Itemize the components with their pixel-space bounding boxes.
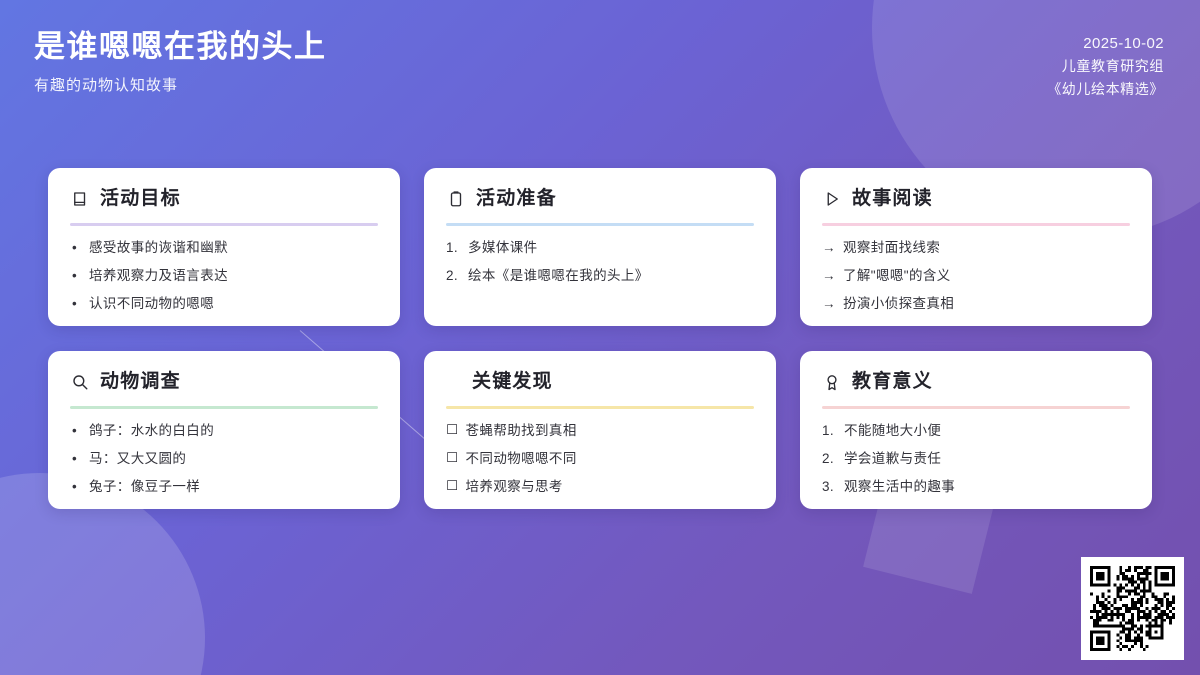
list-item-marker: →: [822, 238, 836, 257]
list-item-marker: 1.: [822, 421, 837, 440]
list-item: 2.绘本《是谁嗯嗯在我的头上》: [446, 266, 754, 285]
card-header: 教育意义: [822, 367, 1130, 397]
list-item: ☐培养观察与思考: [446, 477, 754, 496]
list-item-text: 观察封面找线索: [843, 238, 940, 257]
list-item: ☐不同动物嗯嗯不同: [446, 449, 754, 468]
list-item-marker: •: [70, 449, 82, 468]
page-title: 是谁嗯嗯在我的头上: [34, 26, 327, 68]
card-title: 关键发现: [472, 369, 553, 395]
list-item-marker: •: [70, 477, 82, 496]
list-item: →观察封面找线索: [822, 238, 1130, 257]
list-item: •感受故事的诙谐和幽默: [70, 238, 378, 257]
list-item: →了解"嗯嗯"的含义: [822, 266, 1130, 285]
list-item: ☐苍蝇帮助找到真相: [446, 421, 754, 440]
title-block: 是谁嗯嗯在我的头上 有趣的动物认知故事: [34, 26, 327, 98]
card-header: 故事阅读: [822, 184, 1130, 214]
list-item-text: 观察生活中的趣事: [844, 477, 955, 496]
card-divider: [446, 223, 754, 226]
list-item: 1.多媒体课件: [446, 238, 754, 257]
list-item: •兔子：像豆子一样: [70, 477, 378, 496]
card-header: 活动准备: [446, 184, 754, 214]
list-item-marker: •: [70, 294, 82, 313]
card-title: 教育意义: [852, 369, 933, 395]
list-item-text: 绘本《是谁嗯嗯在我的头上》: [468, 266, 649, 285]
card-list: •鸽子：水水的白白的•马：又大又圆的•兔子：像豆子一样: [70, 421, 378, 496]
list-item-marker: •: [70, 421, 82, 440]
card-title: 活动准备: [476, 186, 557, 212]
list-item-marker: →: [822, 294, 836, 313]
list-item-text: 苍蝇帮助找到真相: [466, 421, 577, 440]
qr-code[interactable]: [1081, 557, 1184, 660]
list-item-text: 感受故事的诙谐和幽默: [89, 238, 228, 257]
list-item: •马：又大又圆的: [70, 449, 378, 468]
card-divider: [70, 406, 378, 409]
card-header: 活动目标: [70, 184, 378, 214]
book-icon: [70, 189, 90, 209]
list-item-marker: •: [70, 238, 82, 257]
card-divider: [822, 223, 1130, 226]
list-item-text: 兔子：像豆子一样: [89, 477, 200, 496]
slide-root: 是谁嗯嗯在我的头上 有趣的动物认知故事 2025-10-02 儿童教育研究组 《…: [0, 0, 1200, 675]
card-header: 动物调查: [70, 367, 378, 397]
card: 关键发现☐苍蝇帮助找到真相☐不同动物嗯嗯不同☐培养观察与思考: [424, 351, 776, 509]
slide-header: 是谁嗯嗯在我的头上 有趣的动物认知故事 2025-10-02 儿童教育研究组 《…: [0, 0, 1200, 150]
card: 动物调查•鸽子：水水的白白的•马：又大又圆的•兔子：像豆子一样: [48, 351, 400, 509]
list-item-text: 认识不同动物的嗯嗯: [89, 294, 214, 313]
clipboard-icon: [446, 189, 466, 209]
card-list: 1.不能随地大小便2.学会道歉与责任3.观察生活中的趣事: [822, 421, 1130, 496]
card: 活动目标•感受故事的诙谐和幽默•培养观察力及语言表达•认识不同动物的嗯嗯: [48, 168, 400, 326]
list-item: →扮演小侦探查真相: [822, 294, 1130, 313]
card: 教育意义1.不能随地大小便2.学会道歉与责任3.观察生活中的趣事: [800, 351, 1152, 509]
page-subtitle: 有趣的动物认知故事: [34, 74, 327, 98]
search-icon: [70, 372, 90, 392]
list-item-marker: ☐: [446, 449, 459, 468]
list-item-text: 马：又大又圆的: [89, 449, 186, 468]
card-title: 活动目标: [100, 186, 181, 212]
list-item-text: 多媒体课件: [468, 238, 538, 257]
meta-organization: 儿童教育研究组: [1047, 55, 1164, 78]
card-header: 关键发现: [446, 367, 754, 397]
card-list: 1.多媒体课件2.绘本《是谁嗯嗯在我的头上》: [446, 238, 754, 285]
list-item-marker: •: [70, 266, 82, 285]
list-item-marker: ☐: [446, 421, 459, 440]
card-divider: [446, 406, 754, 409]
card-divider: [822, 406, 1130, 409]
list-item-text: 培养观察与思考: [466, 477, 563, 496]
list-item-text: 不能随地大小便: [844, 421, 941, 440]
list-item-text: 扮演小侦探查真相: [843, 294, 954, 313]
list-item: •培养观察力及语言表达: [70, 266, 378, 285]
meta-block: 2025-10-02 儿童教育研究组 《幼儿绘本精选》: [1047, 32, 1164, 101]
list-item-text: 不同动物嗯嗯不同: [466, 449, 577, 468]
card-grid: 活动目标•感受故事的诙谐和幽默•培养观察力及语言表达•认识不同动物的嗯嗯活动准备…: [48, 168, 1152, 509]
list-item-marker: 2.: [822, 449, 837, 468]
award-icon: [822, 372, 842, 392]
card-list: →观察封面找线索→了解"嗯嗯"的含义→扮演小侦探查真相: [822, 238, 1130, 313]
list-item: 1.不能随地大小便: [822, 421, 1130, 440]
list-item: 3.观察生活中的趣事: [822, 477, 1130, 496]
list-item-marker: 3.: [822, 477, 837, 496]
list-item-marker: 1.: [446, 238, 461, 257]
card-list: •感受故事的诙谐和幽默•培养观察力及语言表达•认识不同动物的嗯嗯: [70, 238, 378, 313]
qr-code-image: [1090, 566, 1175, 651]
list-item-marker: 2.: [446, 266, 461, 285]
list-item: 2.学会道歉与责任: [822, 449, 1130, 468]
card-list: ☐苍蝇帮助找到真相☐不同动物嗯嗯不同☐培养观察与思考: [446, 421, 754, 496]
list-item: •认识不同动物的嗯嗯: [70, 294, 378, 313]
card: 故事阅读→观察封面找线索→了解"嗯嗯"的含义→扮演小侦探查真相: [800, 168, 1152, 326]
list-item-marker: ☐: [446, 477, 459, 496]
play-triangle-icon: [822, 189, 842, 209]
list-item-marker: →: [822, 266, 836, 285]
card-divider: [70, 223, 378, 226]
card: 活动准备1.多媒体课件2.绘本《是谁嗯嗯在我的头上》: [424, 168, 776, 326]
list-item-text: 鸽子：水水的白白的: [89, 421, 214, 440]
list-item-text: 培养观察力及语言表达: [89, 266, 228, 285]
card-title: 动物调查: [100, 369, 181, 395]
meta-source: 《幼儿绘本精选》: [1047, 78, 1164, 101]
list-item: •鸽子：水水的白白的: [70, 421, 378, 440]
list-item-text: 学会道歉与责任: [844, 449, 941, 468]
card-title: 故事阅读: [852, 186, 933, 212]
meta-date: 2025-10-02: [1047, 32, 1164, 55]
list-item-text: 了解"嗯嗯"的含义: [843, 266, 951, 285]
